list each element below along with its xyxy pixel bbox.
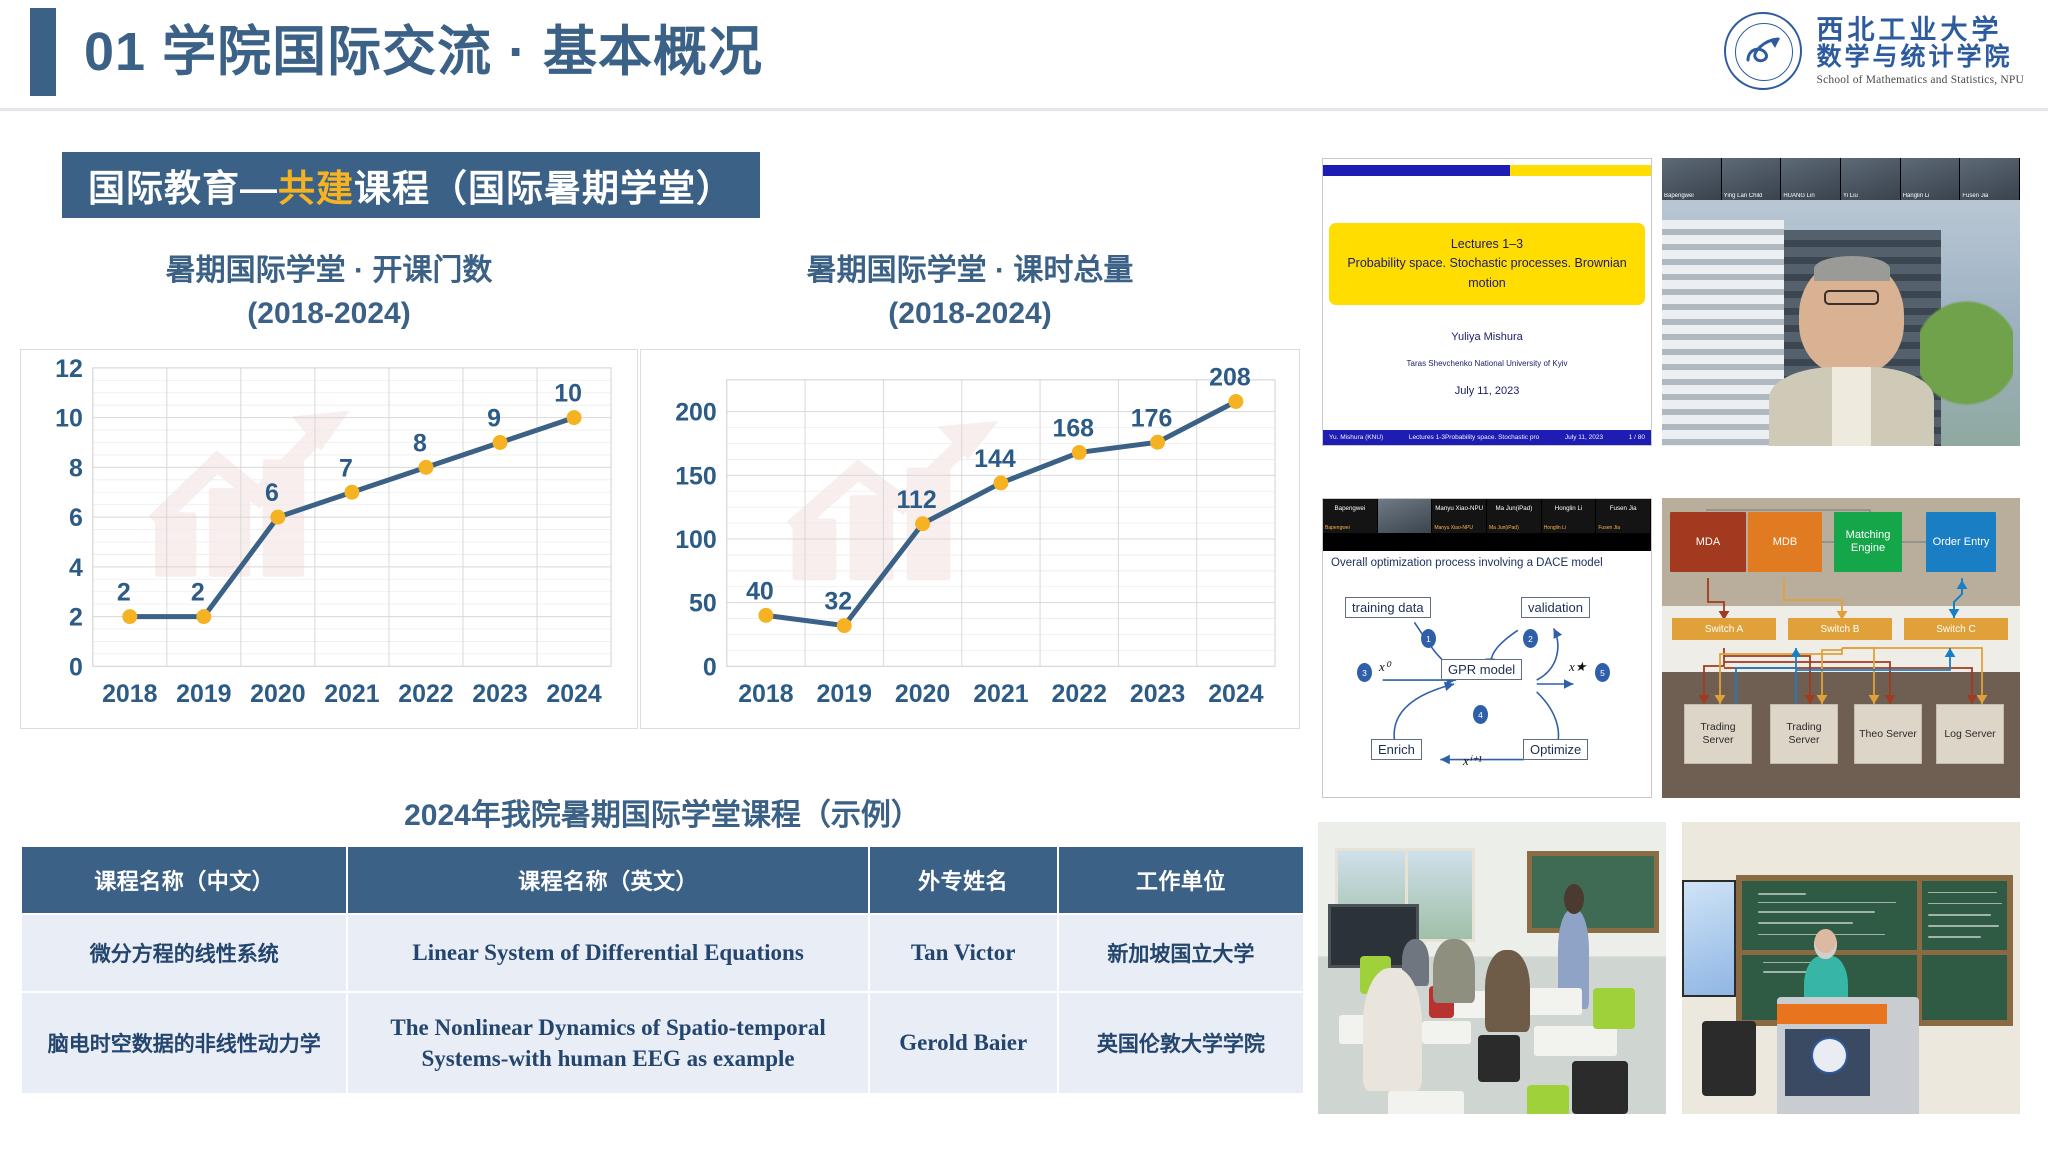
cell-course-en: The Nonlinear Dynamics of Spatio-tempora… xyxy=(347,992,868,1094)
zoom-speaker-shirt xyxy=(1832,367,1872,446)
chart2-title-main: 暑期国际学堂 · 课时总量 xyxy=(640,250,1300,293)
dace-participant-badge: Ma Jun(iPad) xyxy=(1489,525,1519,531)
svg-text:8: 8 xyxy=(413,430,427,458)
chart2-title: 暑期国际学堂 · 课时总量 (2018-2024) xyxy=(640,250,1300,335)
course-table: 课程名称（中文） 课程名称（英文） 外专姓名 工作单位 微分方程的线性系统 Li… xyxy=(20,845,1305,1095)
svg-text:2024: 2024 xyxy=(1208,680,1264,708)
svg-text:144: 144 xyxy=(974,445,1016,473)
classroom-chair xyxy=(1478,1035,1520,1082)
institution-logo: 西北工业大学 数学与统计学院 School of Mathematics and… xyxy=(1724,8,2024,94)
classroom-blackboard xyxy=(1527,851,1659,933)
zoom-bg-building xyxy=(1662,220,1784,446)
seal-swoosh-icon xyxy=(1744,36,1784,68)
architecture-render: MDA MDB Matching Engine Order Entry Swit… xyxy=(1662,498,2020,798)
banner-prefix: 国际教育— xyxy=(88,158,278,212)
zoom-speaker-figure xyxy=(1769,259,1934,446)
svg-text:6: 6 xyxy=(69,504,83,532)
dace-participant-tile[interactable] xyxy=(1378,499,1433,533)
banner-highlight: 共建 xyxy=(278,158,354,212)
svg-text:2020: 2020 xyxy=(250,680,305,708)
chart1-title: 暑期国际学堂 · 开课门数 (2018-2024) xyxy=(20,250,638,335)
photo-lecture-hall xyxy=(1682,822,2020,1114)
photo-zoom-call: BapengweiYing Lan ChildHUANG LinYi LiuHa… xyxy=(1662,158,2020,446)
svg-text:2: 2 xyxy=(69,604,83,632)
slide-author: Yuliya Mishura xyxy=(1323,331,1651,343)
dace-step-5: 5 xyxy=(1595,663,1610,682)
lecture-podium xyxy=(1777,997,1919,1114)
svg-text:4: 4 xyxy=(69,554,83,582)
svg-text:40: 40 xyxy=(746,578,774,606)
zoom-participant-name: Hanglin Li xyxy=(1903,193,1930,199)
dace-participant-strip: BapengweiBapengweiManyu Xiao-NPUManyu Xi… xyxy=(1323,499,1651,533)
column-header-expert: 外专姓名 xyxy=(869,846,1058,914)
dace-var-xi1: xⁱ⁺¹ xyxy=(1463,753,1482,769)
dace-participant-badge: Honglin Li xyxy=(1544,525,1566,531)
classroom-chair xyxy=(1593,988,1635,1029)
chalk-line xyxy=(1928,925,2000,927)
svg-text:2021: 2021 xyxy=(973,680,1029,708)
dace-canvas: training data validation GPR model Enric… xyxy=(1323,575,1651,793)
classroom-student-figure xyxy=(1485,950,1530,1032)
dace-participant-tile[interactable]: Fusen JiaFusen Jia xyxy=(1596,499,1651,533)
zoom-participant-tile[interactable]: Yi Liu xyxy=(1841,158,1901,200)
arch-box-mdb: MDB xyxy=(1748,512,1822,572)
zoom-participant-name: Ying Lan Child xyxy=(1724,193,1763,199)
svg-text:9: 9 xyxy=(487,405,501,433)
dace-render: BapengweiBapengweiManyu Xiao-NPUManyu Xi… xyxy=(1323,499,1651,797)
slide-footer-right: July 11, 2023 xyxy=(1565,434,1603,441)
svg-text:50: 50 xyxy=(689,590,717,618)
column-header-cn-name: 课程名称（中文） xyxy=(21,846,347,914)
zoom-speaker-hair xyxy=(1814,256,1890,281)
table-header-row: 课程名称（中文） 课程名称（英文） 外专姓名 工作单位 xyxy=(21,846,1304,914)
svg-text:2019: 2019 xyxy=(176,680,231,708)
arch-server-theo: Theo Server xyxy=(1854,704,1922,764)
svg-text:2022: 2022 xyxy=(1052,680,1107,708)
photo-lecture-slide: Lectures 1–3 Probability space. Stochast… xyxy=(1322,158,1652,446)
chalk-line xyxy=(1928,914,1992,916)
slide-footer-page: 1 / 80 xyxy=(1629,434,1645,441)
arch-box-matching-engine: Matching Engine xyxy=(1834,512,1902,572)
zoom-participant-name: Yi Liu xyxy=(1843,193,1858,199)
svg-text:0: 0 xyxy=(703,653,717,681)
table-row: 脑电时空数据的非线性动力学 The Nonlinear Dynamics of … xyxy=(21,992,1304,1094)
dace-step-2: 2 xyxy=(1523,629,1538,648)
zoom-participant-strip: BapengweiYing Lan ChildHUANG LinYi LiuHa… xyxy=(1662,158,2020,200)
cell-org: 英国伦敦大学学院 xyxy=(1058,992,1304,1094)
slide-title-line2: Probability space. Stochastic processes.… xyxy=(1339,254,1635,273)
svg-text:2021: 2021 xyxy=(324,680,380,708)
photo-classroom xyxy=(1318,822,1666,1114)
chalk-line xyxy=(1758,902,1896,904)
section-banner: 国际教育—共建课程（国际暑期学堂） xyxy=(62,152,760,218)
dace-participant-name: Fusen Jia xyxy=(1596,505,1650,512)
banner-suffix: 课程（国际暑期学堂） xyxy=(354,158,734,212)
dace-node-training-data: training data xyxy=(1345,597,1431,618)
slide-topbar-yellow xyxy=(1510,165,1651,176)
zoom-speaker-head xyxy=(1799,259,1904,375)
classroom-desk xyxy=(1534,1026,1618,1055)
chalk-line xyxy=(1758,893,1806,895)
classroom-student-figure xyxy=(1433,939,1475,1003)
zoom-participant-name: Bapengwei xyxy=(1664,193,1694,199)
dace-node-validation: validation xyxy=(1521,597,1590,618)
slide-date: July 11, 2023 xyxy=(1323,385,1651,397)
chart1-title-sub: (2018-2024) xyxy=(20,293,638,336)
slide-title-line1: Lectures 1–3 xyxy=(1339,235,1635,254)
slide-topbar-blue xyxy=(1323,165,1510,176)
arch-server-trading-1: Trading Server xyxy=(1684,704,1752,764)
chart1-title-main: 暑期国际学堂 · 开课门数 xyxy=(20,250,638,293)
arch-box-order-entry: Order Entry xyxy=(1926,512,1996,572)
dace-participant-badge: Fusen Jia xyxy=(1598,525,1620,531)
cell-course-en: Linear System of Differential Equations xyxy=(347,914,868,992)
classroom-chair xyxy=(1572,1061,1628,1114)
arch-server-log: Log Server xyxy=(1936,704,2004,764)
zoom-participant-tile[interactable]: Ying Lan Child xyxy=(1722,158,1782,200)
chart-block-courses: 暑期国际学堂 · 开课门数 (2018-2024) 22678910024681… xyxy=(20,250,638,729)
slide-root: 01 学院国际交流 · 基本概况 西北工业大学 数学与统计学院 School o… xyxy=(0,0,2048,1152)
svg-text:12: 12 xyxy=(55,355,83,383)
zoom-participant-tile[interactable]: Bapengwei xyxy=(1662,158,1722,200)
chalk-line xyxy=(1928,892,1997,894)
photo-dace-diagram: BapengweiBapengweiManyu Xiao-NPUManyu Xi… xyxy=(1322,498,1652,798)
arch-box-mda: MDA xyxy=(1670,512,1746,572)
chart2-frame: 4032112144168176208050100150200201820192… xyxy=(640,349,1300,729)
cell-org: 新加坡国立大学 xyxy=(1058,914,1304,992)
page-title: 01 学院国际交流 · 基本概况 xyxy=(84,12,763,92)
zoom-participant-name: Fusen Jia xyxy=(1962,193,1988,199)
lecture-slide-render: Lectures 1–3 Probability space. Stochast… xyxy=(1323,159,1651,445)
chart2-title-sub: (2018-2024) xyxy=(640,293,1300,336)
chalk-line xyxy=(1758,911,1875,913)
dace-node-optimize: Optimize xyxy=(1523,739,1588,760)
classroom-render xyxy=(1318,822,1666,1114)
svg-text:208: 208 xyxy=(1209,364,1251,392)
slide-title-box: Lectures 1–3 Probability space. Stochast… xyxy=(1329,223,1645,305)
svg-text:2023: 2023 xyxy=(472,680,527,708)
glasses-icon xyxy=(1824,290,1879,305)
classroom-desk xyxy=(1422,1021,1471,1044)
svg-text:2024: 2024 xyxy=(546,680,602,708)
cell-expert: Gerold Baier xyxy=(869,992,1058,1094)
zoom-call-render: BapengweiYing Lan ChildHUANG LinYi LiuHa… xyxy=(1662,158,2020,446)
logo-university-name: 西北工业大学 xyxy=(1816,16,2024,44)
svg-text:2: 2 xyxy=(117,579,131,607)
classroom-chair xyxy=(1527,1085,1569,1114)
dace-participant-tile[interactable]: BapengweiBapengwei xyxy=(1323,499,1378,533)
dace-letterbox xyxy=(1323,533,1651,551)
svg-text:2023: 2023 xyxy=(1130,680,1185,708)
arch-switch-a: Switch A xyxy=(1672,618,1776,640)
svg-text:0: 0 xyxy=(69,653,83,681)
cell-expert: Tan Victor xyxy=(869,914,1058,992)
chart1-frame: 2267891002468101220182019202020212022202… xyxy=(20,349,638,729)
svg-text:2022: 2022 xyxy=(398,680,453,708)
dace-var-x0: x⁰ xyxy=(1379,659,1390,675)
svg-text:112: 112 xyxy=(896,486,936,514)
svg-text:100: 100 xyxy=(675,526,717,554)
svg-text:10: 10 xyxy=(554,380,582,408)
svg-text:2018: 2018 xyxy=(738,680,794,708)
zoom-participant-name: HUANG Lin xyxy=(1783,193,1814,199)
table-title: 2024年我院暑期国际学堂课程（示例） xyxy=(20,790,1305,834)
column-header-org: 工作单位 xyxy=(1058,846,1304,914)
cell-course-cn: 脑电时空数据的非线性动力学 xyxy=(21,992,347,1094)
column-header-en-name: 课程名称（英文） xyxy=(347,846,868,914)
svg-text:8: 8 xyxy=(69,455,83,483)
svg-text:150: 150 xyxy=(675,463,717,491)
cell-course-cn: 微分方程的线性系统 xyxy=(21,914,347,992)
logo-english-name: School of Mathematics and Statistics, NP… xyxy=(1816,74,2024,86)
logo-text-block: 西北工业大学 数学与统计学院 School of Mathematics and… xyxy=(1816,16,2024,86)
header-divider xyxy=(0,108,2048,111)
dace-participant-name: Ma Jun(iPad) xyxy=(1487,505,1541,512)
logo-school-name: 数学与统计学院 xyxy=(1816,45,2024,71)
arch-switch-c: Switch C xyxy=(1904,618,2008,640)
lecture-projection-screen xyxy=(1682,880,1736,997)
svg-text:168: 168 xyxy=(1052,415,1094,443)
podium-accent xyxy=(1777,1004,1888,1024)
zoom-main-video xyxy=(1662,200,2020,446)
blackboard-divider xyxy=(1742,950,2007,955)
header-accent-bar xyxy=(30,8,56,96)
svg-text:2019: 2019 xyxy=(817,680,872,708)
dace-participant-tile[interactable]: Manyu Xiao-NPUManyu Xiao-NPU xyxy=(1432,499,1487,533)
slide-topbar xyxy=(1323,165,1651,176)
chalk-line xyxy=(1758,922,1853,924)
svg-text:10: 10 xyxy=(55,405,83,433)
slide-title-line3: motion xyxy=(1339,274,1635,293)
dace-participant-tile[interactable]: Honglin LiHonglin Li xyxy=(1542,499,1597,533)
dace-caption: Overall optimization process involving a… xyxy=(1331,557,1603,569)
slide-footer-mid: Lectures 1-3Probability space. Stochasti… xyxy=(1409,434,1539,441)
zoom-participant-tile[interactable]: Fusen Jia xyxy=(1960,158,2020,200)
table-row: 微分方程的线性系统 Linear System of Differential … xyxy=(21,914,1304,992)
dace-participant-tile[interactable]: Ma Jun(iPad)Ma Jun(iPad) xyxy=(1487,499,1542,533)
slide-university: Taras Shevchenko National University of … xyxy=(1323,359,1651,368)
chalk-line xyxy=(1928,936,1981,938)
university-seal-icon xyxy=(1724,12,1802,90)
dace-step-3: 3 xyxy=(1357,663,1372,682)
podium-university-emblem-icon xyxy=(1811,1037,1848,1074)
slide-footer-left: Yu. Mishura (KNU) xyxy=(1329,434,1383,441)
svg-text:32: 32 xyxy=(824,588,852,616)
chart-block-hours: 暑期国际学堂 · 课时总量 (2018-2024) 40321121441681… xyxy=(640,250,1300,729)
dace-node-enrich: Enrich xyxy=(1371,739,1422,760)
lecture-chair xyxy=(1702,1021,1756,1097)
zoom-speaker-body xyxy=(1769,367,1934,446)
dace-participant-badge: Manyu Xiao-NPU xyxy=(1434,525,1473,531)
dace-step-4: 4 xyxy=(1473,705,1488,724)
dace-participant-name: Bapengwei xyxy=(1323,505,1377,512)
arch-switch-b: Switch B xyxy=(1788,618,1892,640)
dace-node-gpr-model: GPR model xyxy=(1441,659,1522,680)
chart1-plot: 2267891002468101220182019202020212022202… xyxy=(21,350,637,728)
zoom-participant-tile[interactable]: HUANG Lin xyxy=(1781,158,1841,200)
svg-text:6: 6 xyxy=(265,479,279,507)
zoom-participant-tile[interactable]: Hanglin Li xyxy=(1901,158,1961,200)
svg-text:2: 2 xyxy=(191,579,205,607)
dace-participant-name: Manyu Xiao-NPU xyxy=(1432,505,1486,512)
arch-server-trading-2: Trading Server xyxy=(1770,704,1838,764)
svg-text:200: 200 xyxy=(675,399,717,427)
svg-text:176: 176 xyxy=(1131,405,1173,433)
chalk-line xyxy=(1928,903,2002,905)
svg-text:2020: 2020 xyxy=(895,680,950,708)
dace-var-xstar: x★ xyxy=(1569,659,1586,675)
svg-text:7: 7 xyxy=(339,455,353,483)
dace-step-1: 1 xyxy=(1421,629,1436,648)
classroom-student-figure xyxy=(1363,968,1422,1091)
dace-participant-name: Honglin Li xyxy=(1542,505,1596,512)
svg-text:2018: 2018 xyxy=(102,680,158,708)
dace-participant-badge: Bapengwei xyxy=(1325,525,1350,531)
photo-architecture-diagram: MDA MDB Matching Engine Order Entry Swit… xyxy=(1662,498,2020,798)
slide-footer: Yu. Mishura (KNU) Lectures 1-3Probabilit… xyxy=(1323,430,1651,445)
classroom-desk xyxy=(1388,1091,1465,1114)
chart2-plot: 4032112144168176208050100150200201820192… xyxy=(641,350,1299,728)
lecture-hall-render xyxy=(1682,822,2020,1114)
